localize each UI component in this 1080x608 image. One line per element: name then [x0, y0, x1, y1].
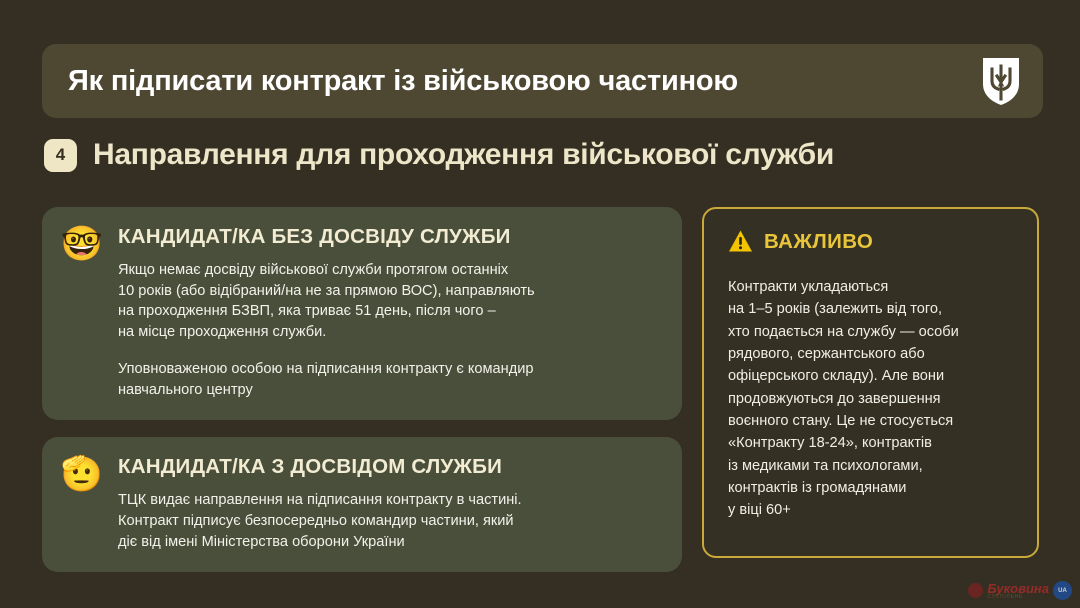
- header-bar: Як підписати контракт із військовою част…: [42, 44, 1043, 118]
- card-content: КАНДИДАТ/КА З ДОСВІДОМ СЛУЖБИ ТЦК видає …: [118, 455, 660, 552]
- card-paragraph-1: Якщо немає досвіду військової служби про…: [118, 260, 660, 343]
- important-body-text: Контракти укладаються на 1–5 років (зале…: [728, 276, 1015, 522]
- info-card-no-experience: 🤓 КАНДИДАТ/КА БЕЗ ДОСВІДУ СЛУЖБИ Якщо не…: [42, 207, 682, 420]
- card-content: КАНДИДАТ/КА БЕЗ ДОСВІДУ СЛУЖБИ Якщо нема…: [118, 225, 660, 400]
- watermark-logo: Буковина СУСПІЛЬНЕ UA: [968, 581, 1072, 600]
- section-subtitle: Направлення для проходження військової с…: [93, 138, 834, 172]
- info-card-with-experience: 🫡 КАНДИДАТ/КА З ДОСВІДОМ СЛУЖБИ ТЦК вида…: [42, 437, 682, 572]
- watermark-ua-badge: UA: [1053, 581, 1072, 600]
- important-title: ВАЖЛИВО: [764, 230, 873, 254]
- card-title: КАНДИДАТ/КА БЕЗ ДОСВІДУ СЛУЖБИ: [118, 225, 660, 249]
- important-panel: ВАЖЛИВО Контракти укладаються на 1–5 рок…: [702, 207, 1039, 558]
- subtitle-row: 4 Направлення для проходження військової…: [44, 133, 1060, 177]
- card-paragraph-1: ТЦК видає направлення на підписання конт…: [118, 490, 660, 552]
- card-title: КАНДИДАТ/КА З ДОСВІДОМ СЛУЖБИ: [118, 455, 660, 479]
- ukraine-trident-shield-icon: [981, 56, 1021, 106]
- warning-triangle-icon: [728, 229, 753, 254]
- watermark-name: Буковина: [987, 582, 1049, 595]
- nerd-face-emoji: 🤓: [60, 225, 104, 400]
- cards-column: 🤓 КАНДИДАТ/КА БЕЗ ДОСВІДУ СЛУЖБИ Якщо не…: [42, 207, 682, 589]
- watermark-subtitle: СУСПІЛЬНЕ: [987, 595, 1049, 600]
- important-header: ВАЖЛИВО: [728, 229, 1015, 254]
- step-number-badge: 4: [44, 139, 77, 172]
- saluting-face-emoji: 🫡: [60, 455, 104, 552]
- watermark-text: Буковина СУСПІЛЬНЕ: [987, 582, 1049, 600]
- page-title: Як підписати контракт із військовою част…: [68, 65, 981, 98]
- watermark-crest-icon: [968, 583, 983, 598]
- card-paragraph-2: Уповноваженою особою на підписання контр…: [118, 359, 660, 400]
